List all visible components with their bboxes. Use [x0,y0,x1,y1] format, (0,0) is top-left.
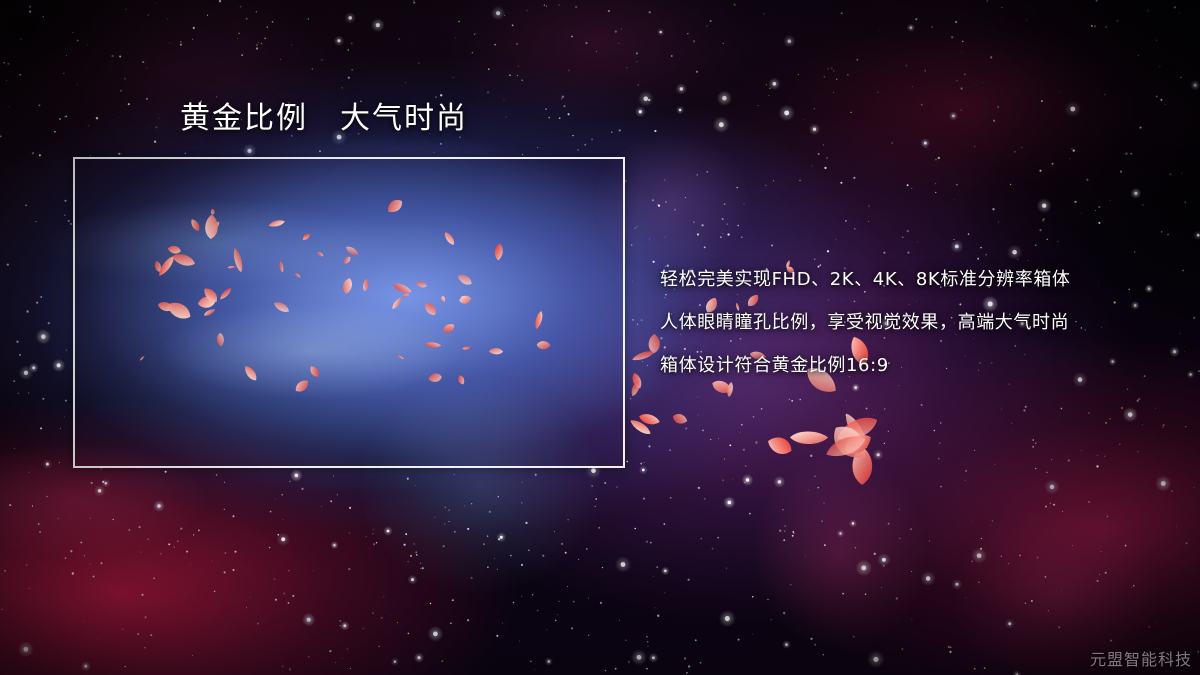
body-text-block: 轻松完美实现FHD、2K、4K、8K标准分辨率箱体 人体眼睛瞳孔比例，享受视觉效… [660,258,1180,387]
brand-watermark: 元盟智能科技 [1090,646,1192,670]
body-line-2: 人体眼睛瞳孔比例，享受视觉效果，高端大气时尚 [660,301,1180,344]
body-line-3: 箱体设计符合黄金比例16:9 [660,344,1180,387]
frame-dark-layer [73,157,625,468]
frame-nebula-layer [73,157,625,468]
frame-filament-layer [73,157,625,468]
page-title: 黄金比例 大气时尚 [180,101,468,137]
video-frame-content [75,159,623,466]
slide-canvas: 黄金比例 大气时尚 轻松完美实现FHD、2K、4K、8K标准分辨率箱体 人体眼睛… [0,0,1200,675]
video-preview-frame[interactable] [73,157,625,468]
body-line-1: 轻松完美实现FHD、2K、4K、8K标准分辨率箱体 [660,258,1180,301]
